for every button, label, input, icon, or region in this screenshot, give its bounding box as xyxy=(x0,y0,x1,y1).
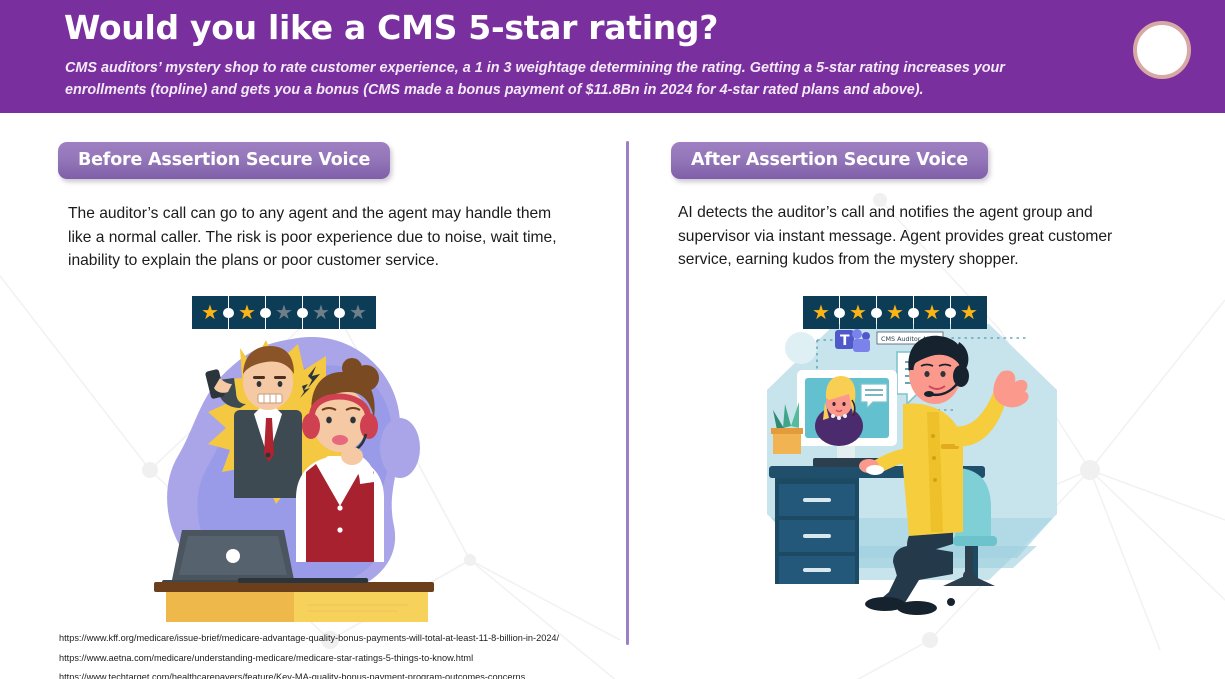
slide-canvas: Would you like a CMS 5-star rating? CMS … xyxy=(0,0,1225,679)
star-filled-icon: ★ xyxy=(923,303,941,323)
before-star-rating: ★ ★ ★ ★ ★ xyxy=(192,296,376,329)
source-links: https://www.kff.org/medicare/issue-brief… xyxy=(59,629,559,679)
svg-text:T: T xyxy=(840,333,850,349)
star-tile: ★ xyxy=(914,296,950,329)
star-tile: ★ xyxy=(803,296,839,329)
star-filled-icon: ★ xyxy=(238,303,256,323)
star-filled-icon: ★ xyxy=(201,303,219,323)
star-empty-icon: ★ xyxy=(349,303,367,323)
microsoft-teams-icon: T xyxy=(835,329,870,352)
before-panel-badge: Before Assertion Secure Voice xyxy=(58,142,390,179)
header-banner: Would you like a CMS 5-star rating? CMS … xyxy=(0,0,1225,113)
after-star-rating: ★ ★ ★ ★ ★ xyxy=(803,296,987,329)
happy-agent-at-desk-with-video-call-illustration: T CMS Auditor Alert xyxy=(757,318,1067,620)
source-link[interactable]: https://www.aetna.com/medicare/understan… xyxy=(59,649,559,669)
star-tile: ★ xyxy=(340,296,376,329)
circle-badge-icon xyxy=(1133,21,1191,79)
source-link[interactable]: https://www.kff.org/medicare/issue-brief… xyxy=(59,629,559,649)
panel-divider xyxy=(626,141,629,645)
page-title: Would you like a CMS 5-star rating? xyxy=(64,8,718,47)
after-panel-body: AI detects the auditor’s call and notifi… xyxy=(678,201,1163,272)
star-tile: ★ xyxy=(192,296,228,329)
star-filled-icon: ★ xyxy=(960,303,978,323)
star-tile: ★ xyxy=(303,296,339,329)
angry-caller-and-stressed-agent-illustration xyxy=(148,330,440,622)
star-tile: ★ xyxy=(877,296,913,329)
star-tile: ★ xyxy=(266,296,302,329)
after-panel-badge: After Assertion Secure Voice xyxy=(671,142,988,179)
source-link[interactable]: https://www.techtarget.com/healthcarepay… xyxy=(59,668,559,679)
star-tile: ★ xyxy=(840,296,876,329)
header-subtitle: CMS auditors’ mystery shop to rate custo… xyxy=(65,57,1065,101)
star-empty-icon: ★ xyxy=(275,303,293,323)
star-tile: ★ xyxy=(951,296,987,329)
star-filled-icon: ★ xyxy=(849,303,867,323)
star-filled-icon: ★ xyxy=(812,303,830,323)
star-filled-icon: ★ xyxy=(886,303,904,323)
before-panel-body: The auditor’s call can go to any agent a… xyxy=(68,202,578,273)
star-empty-icon: ★ xyxy=(312,303,330,323)
star-tile: ★ xyxy=(229,296,265,329)
